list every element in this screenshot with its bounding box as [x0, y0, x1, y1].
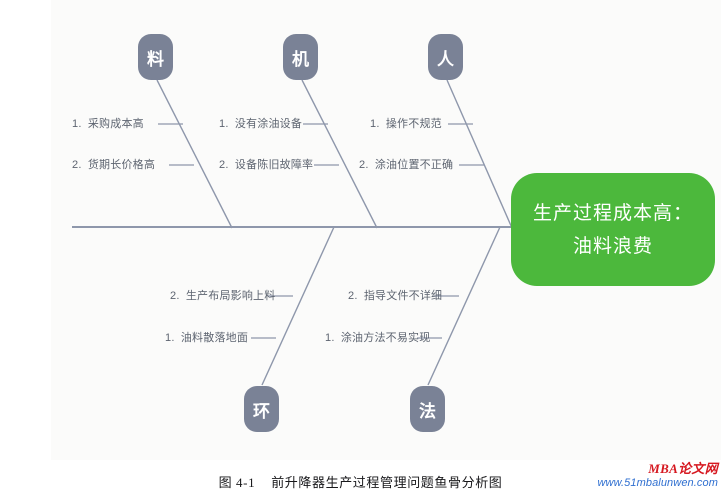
figure-number: 图 4-1 [219, 475, 256, 490]
cause-man-2: 2. 涂油位置不正确 [359, 159, 453, 172]
category-bubble-material-label: 料 [147, 45, 164, 70]
diagram-canvas: 料 机 人 环 法 1. 采购成本高 2. 货期长价格高 1. 没有涂油设备 2… [0, 0, 721, 460]
cause-material-1: 1. 采购成本高 [72, 118, 144, 131]
effect-box[interactable]: 生产过程成本高： 油料浪费 [511, 173, 715, 286]
cause-man-1-index: 1. [370, 118, 380, 130]
cause-environment-1-text: 生产布局影响上料 [186, 290, 276, 302]
cause-material-2: 2. 货期长价格高 [72, 159, 155, 172]
cause-environment-1: 2. 生产布局影响上料 [170, 290, 275, 303]
cause-machine-1: 1. 没有涂油设备 [219, 118, 302, 131]
cause-man-1-text: 操作不规范 [386, 118, 442, 130]
category-bubble-method-label: 法 [419, 397, 436, 422]
effect-line-1: 生产过程成本高： [533, 197, 693, 230]
rib-material [157, 80, 232, 228]
category-bubble-man-label: 人 [437, 45, 454, 70]
category-bubble-machine-label: 机 [292, 45, 309, 70]
figure-title: 前升降器生产过程管理问题鱼骨分析图 [271, 475, 502, 490]
cause-machine-1-index: 1. [219, 118, 229, 130]
category-bubble-method[interactable]: 法 [410, 386, 445, 432]
rib-machine [302, 80, 377, 228]
cause-environment-2-index: 1. [165, 332, 175, 344]
cause-machine-2: 2. 设备陈旧故障率 [219, 159, 313, 172]
cause-man-2-index: 2. [359, 159, 369, 171]
cause-man-1: 1. 操作不规范 [370, 118, 442, 131]
cause-material-2-index: 2. [72, 159, 82, 171]
rib-man [447, 80, 512, 228]
rib-environment [262, 227, 334, 385]
cause-material-2-text: 货期长价格高 [88, 159, 155, 171]
cause-man-2-text: 涂油位置不正确 [375, 159, 453, 171]
category-bubble-environment[interactable]: 环 [244, 386, 279, 432]
cause-material-1-index: 1. [72, 118, 82, 130]
cause-method-1-index: 2. [348, 290, 358, 302]
cause-machine-2-text: 设备陈旧故障率 [235, 159, 313, 171]
cause-environment-2-text: 油料散落地面 [181, 332, 248, 344]
cause-material-1-text: 采购成本高 [88, 118, 144, 130]
watermark-url: www.51mbalunwen.com [597, 478, 718, 489]
cause-environment-1-index: 2. [170, 290, 180, 302]
cause-method-1: 2. 指导文件不详细 [348, 290, 442, 303]
cause-method-1-text: 指导文件不详细 [364, 290, 442, 302]
category-bubble-material[interactable]: 料 [138, 34, 173, 80]
fishbone-diagram-page: 料 机 人 环 法 1. 采购成本高 2. 货期长价格高 1. 没有涂油设备 2… [0, 0, 721, 497]
cause-machine-1-text: 没有涂油设备 [235, 118, 302, 130]
effect-line-2: 油料浪费 [573, 230, 653, 263]
category-bubble-machine[interactable]: 机 [283, 34, 318, 80]
rib-method [428, 227, 500, 385]
watermark: MBA论文网 www.51mbalunwen.com [597, 462, 718, 489]
cause-machine-2-index: 2. [219, 159, 229, 171]
cause-method-2: 1. 涂油方法不易实现 [325, 332, 430, 345]
category-bubble-man[interactable]: 人 [428, 34, 463, 80]
cause-method-2-index: 1. [325, 332, 335, 344]
cause-method-2-text: 涂油方法不易实现 [341, 332, 431, 344]
cause-environment-2: 1. 油料散落地面 [165, 332, 248, 345]
category-bubble-environment-label: 环 [253, 397, 270, 422]
watermark-brand: MBA论文网 [597, 462, 718, 475]
